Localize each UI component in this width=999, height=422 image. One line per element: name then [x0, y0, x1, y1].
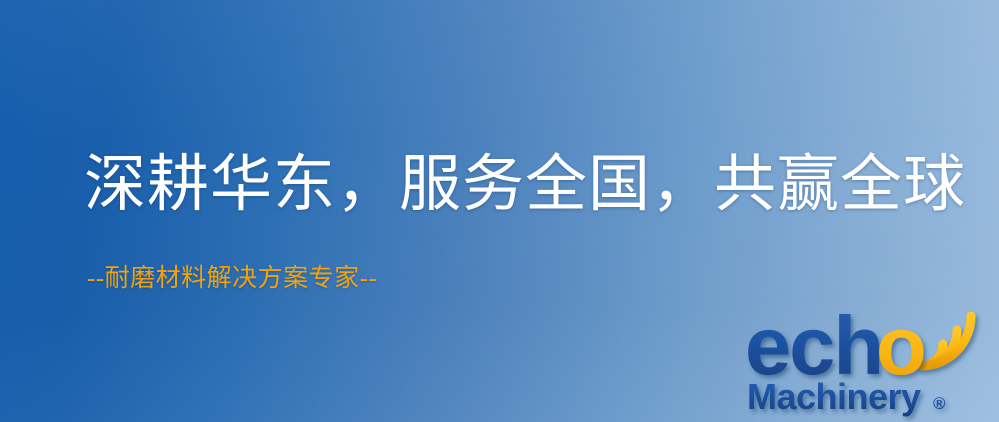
svg-text:®: ®: [933, 394, 946, 413]
echo-arcs-icon: [921, 316, 971, 366]
banner-subtitle: --耐磨材料解决方案专家--: [87, 264, 377, 294]
hero-banner: 深耕华东，服务全国，共赢全球 --耐磨材料解决方案专家--: [0, 0, 999, 422]
banner-headline: 深耕华东，服务全国，共赢全球: [84, 152, 966, 219]
echo-machinery-logo[interactable]: ech o Machinery ®: [745, 296, 999, 422]
svg-text:Machinery: Machinery: [747, 376, 921, 417]
logo-tagline: Machinery ®: [747, 376, 946, 417]
